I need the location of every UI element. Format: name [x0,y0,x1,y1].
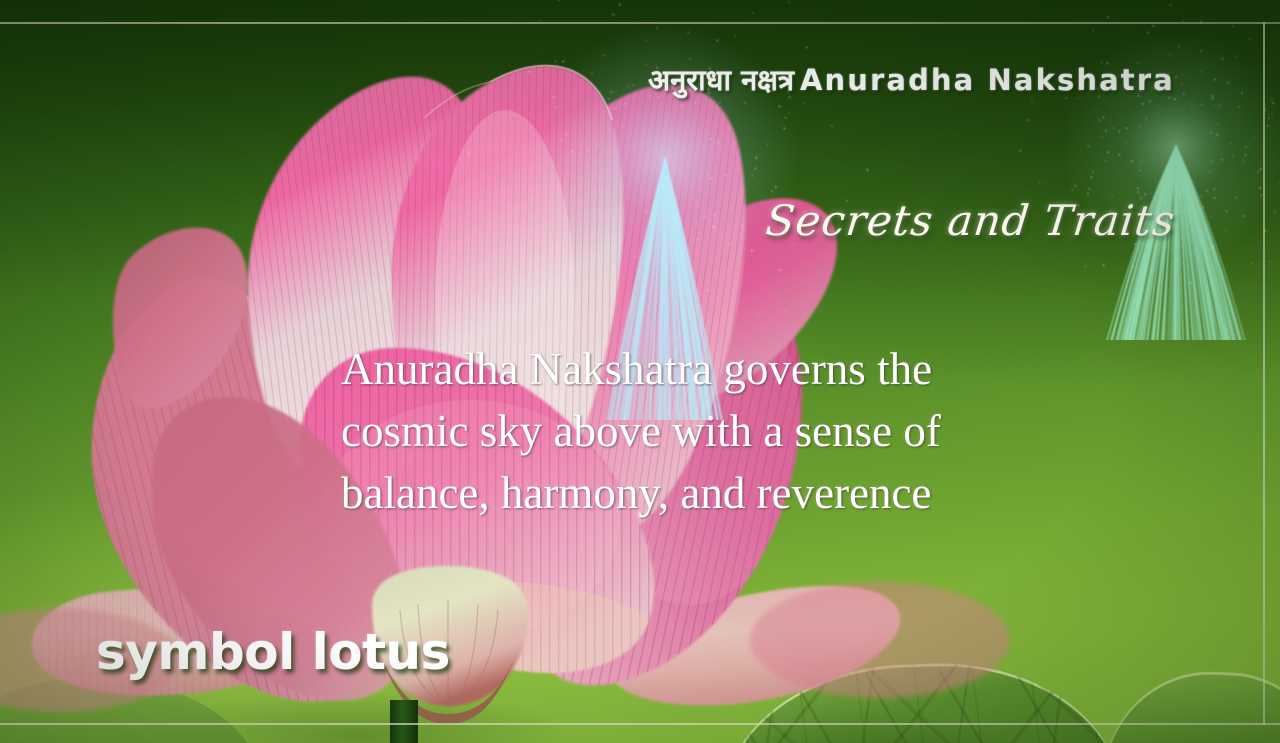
title-sanskrit: अनुराधा नक्षत्र [648,63,794,97]
frame-line-top [0,22,1280,24]
body-text: Anuradha Nakshatra governs the cosmic sk… [341,338,1061,524]
lotus-stem [390,700,418,743]
slide-canvas: अनुराधा नक्षत्रAnuradha Nakshatra Secret… [0,0,1280,743]
subtitle: Secrets and Traits [763,196,1177,245]
lotus-petal-blur-right [750,582,1010,698]
title-roman: Anuradha Nakshatra [800,63,1175,97]
firework-burst-right [1000,0,1280,340]
frame-line-right [1263,22,1265,725]
page-title: अनुराधा नक्षत्रAnuradha Nakshatra [648,60,1175,99]
frame-line-bottom [0,723,1280,725]
symbol-caption: symbol lotus [96,623,450,681]
